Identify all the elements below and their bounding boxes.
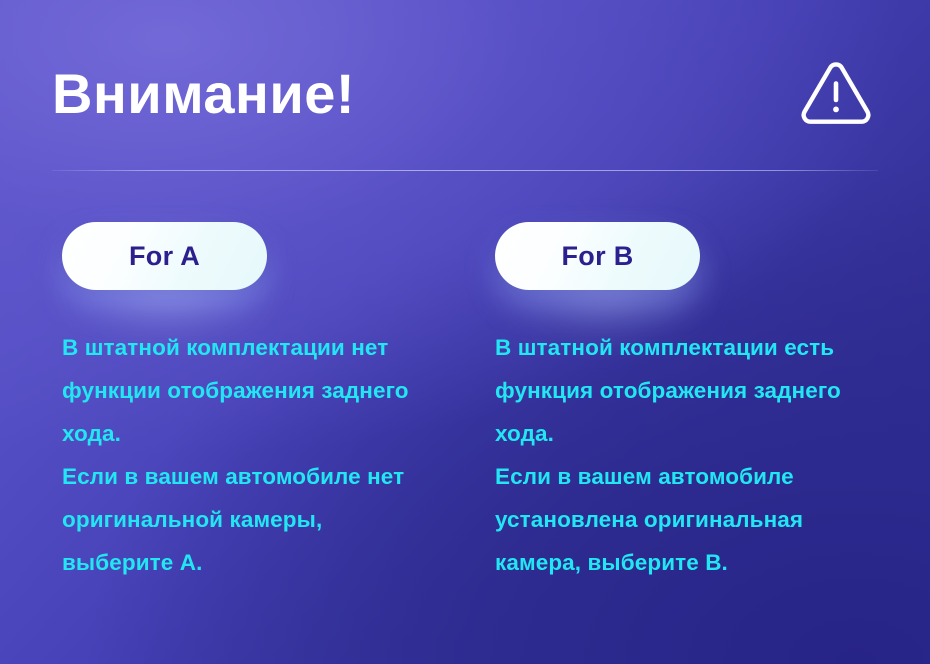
option-b-button-label: For B <box>562 241 634 272</box>
header-divider <box>52 170 878 171</box>
option-b-button[interactable]: For B <box>495 222 700 290</box>
poster-header: Внимание! <box>52 48 878 140</box>
option-b-paragraph-2: Если в вашем автомобиле установлена ориг… <box>495 455 872 584</box>
option-a-column: For A В штатной комплектации нет функции… <box>0 222 436 584</box>
option-a-paragraph-1: В штатной комплектации нет функции отобр… <box>62 326 436 455</box>
option-b-column: For B В штатной комплектации есть функци… <box>436 222 872 584</box>
option-a-description: В штатной комплектации нет функции отобр… <box>62 290 436 584</box>
option-a-paragraph-2: Если в вашем автомобиле нет оригинальной… <box>62 455 436 584</box>
option-b-paragraph-1: В штатной комплектации есть функция отоб… <box>495 326 872 455</box>
warning-triangle-icon <box>800 61 878 127</box>
option-a-button[interactable]: For A <box>62 222 267 290</box>
page-title: Внимание! <box>52 65 355 124</box>
options-columns: For A В штатной комплектации нет функции… <box>0 222 930 584</box>
warning-poster: Внимание! For A В штатной комплектации н… <box>0 0 930 664</box>
option-b-description: В штатной комплектации есть функция отоб… <box>495 290 872 584</box>
warning-triangle-icon-svg <box>800 61 872 127</box>
option-a-button-label: For A <box>129 241 200 272</box>
